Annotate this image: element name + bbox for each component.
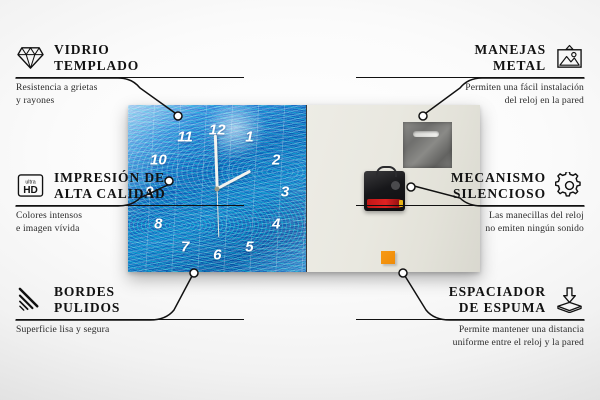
- callout-title-line1: MANEJAS: [474, 42, 546, 58]
- diamond-icon: [16, 44, 45, 71]
- callout-subtitle-line2: y rayones: [16, 95, 244, 108]
- callout-subtitle-line2: no emiten ningún sonido: [356, 223, 584, 236]
- callout-title-line1: ESPACIADOR: [449, 284, 546, 300]
- hanger-slot: [413, 131, 439, 137]
- clock-numeral: 10: [150, 153, 167, 168]
- gear-icon: [555, 172, 584, 199]
- foam-spacer-arrow-icon: [555, 286, 584, 313]
- callout-rule: [16, 205, 244, 206]
- callout-rule: [16, 77, 244, 78]
- callout-title-line2: METAL: [474, 58, 546, 74]
- callout-espaciador-espuma[interactable]: ESPACIADOR DE ESPUMA Permite mantener un…: [356, 284, 584, 349]
- callout-rule: [356, 77, 584, 78]
- clock-numeral: 6: [213, 248, 221, 263]
- callout-mecanismo-silencioso[interactable]: MECANISMO SILENCIOSO Las manecillas del …: [356, 170, 584, 235]
- callout-rule: [16, 319, 244, 320]
- callout-impresion-alta-calidad[interactable]: ultra HD IMPRESIÓN DE ALTA CALIDAD Color…: [16, 170, 244, 235]
- callout-subtitle-line1: Las manecillas del reloj: [356, 210, 584, 223]
- callout-title-line1: IMPRESIÓN DE: [54, 170, 166, 186]
- callout-rule: [356, 319, 584, 320]
- callout-header: MANEJAS METAL: [356, 42, 584, 74]
- clock-numeral: 7: [181, 239, 189, 254]
- clock-numeral: 11: [177, 129, 193, 144]
- callout-title-line1: MECANISMO: [451, 170, 546, 186]
- callout-manejas-metal[interactable]: MANEJAS METAL Permiten una fácil instala…: [356, 42, 584, 107]
- metal-hanger-plate: [403, 122, 452, 168]
- infographic-canvas: 12 1 2 3 4 5 6 7 8 9 10 11: [0, 0, 600, 400]
- foam-spacer: [381, 251, 395, 264]
- callout-header: VIDRIO TEMPLADO: [16, 42, 244, 74]
- svg-text:HD: HD: [23, 186, 38, 197]
- callout-header: ultra HD IMPRESIÓN DE ALTA CALIDAD: [16, 170, 244, 202]
- callout-subtitle-line2: uniforme entre el reloj y la pared: [356, 337, 584, 350]
- callout-subtitle-line1: Colores intensos: [16, 210, 244, 223]
- clock-numeral: 4: [272, 216, 280, 231]
- clock-numeral: 1: [245, 129, 253, 144]
- callout-subtitle-line1: Permite mantener una distancia: [356, 324, 584, 337]
- clock-numeral: 2: [272, 153, 280, 168]
- clock-numeral: 5: [245, 239, 253, 254]
- callout-subtitle-line2: e imagen vívida: [16, 223, 244, 236]
- callout-header: ESPACIADOR DE ESPUMA: [356, 284, 584, 316]
- clock-numeral: 3: [281, 184, 289, 199]
- callout-header: BORDES PULIDOS: [16, 284, 244, 316]
- callout-rule: [356, 205, 584, 206]
- callout-header: MECANISMO SILENCIOSO: [356, 170, 584, 202]
- callout-subtitle-line1: Permiten una fácil instalación: [356, 82, 584, 95]
- callout-title-line2: ALTA CALIDAD: [54, 186, 166, 202]
- callout-title-line1: BORDES: [54, 284, 120, 300]
- callout-subtitle-line2: del reloj en la pared: [356, 95, 584, 108]
- ultra-hd-icon: ultra HD: [16, 172, 45, 199]
- callout-subtitle-line1: Resistencia a grietas: [16, 82, 244, 95]
- callout-title-line2: PULIDOS: [54, 300, 120, 316]
- callout-title-line2: DE ESPUMA: [449, 300, 546, 316]
- picture-frame-hanger-icon: [555, 44, 584, 71]
- callout-title-line2: TEMPLADO: [54, 58, 139, 74]
- callout-bordes-pulidos[interactable]: BORDES PULIDOS Superficie lisa y segura: [16, 284, 244, 337]
- clock-numeral: 12: [209, 123, 226, 138]
- callout-vidrio-templado[interactable]: VIDRIO TEMPLADO Resistencia a grietas y …: [16, 42, 244, 107]
- callout-title-line2: SILENCIOSO: [451, 186, 546, 202]
- callout-subtitle-line1: Superficie lisa y segura: [16, 324, 244, 337]
- callout-title-line1: VIDRIO: [54, 42, 139, 58]
- polished-edges-icon: [16, 286, 45, 313]
